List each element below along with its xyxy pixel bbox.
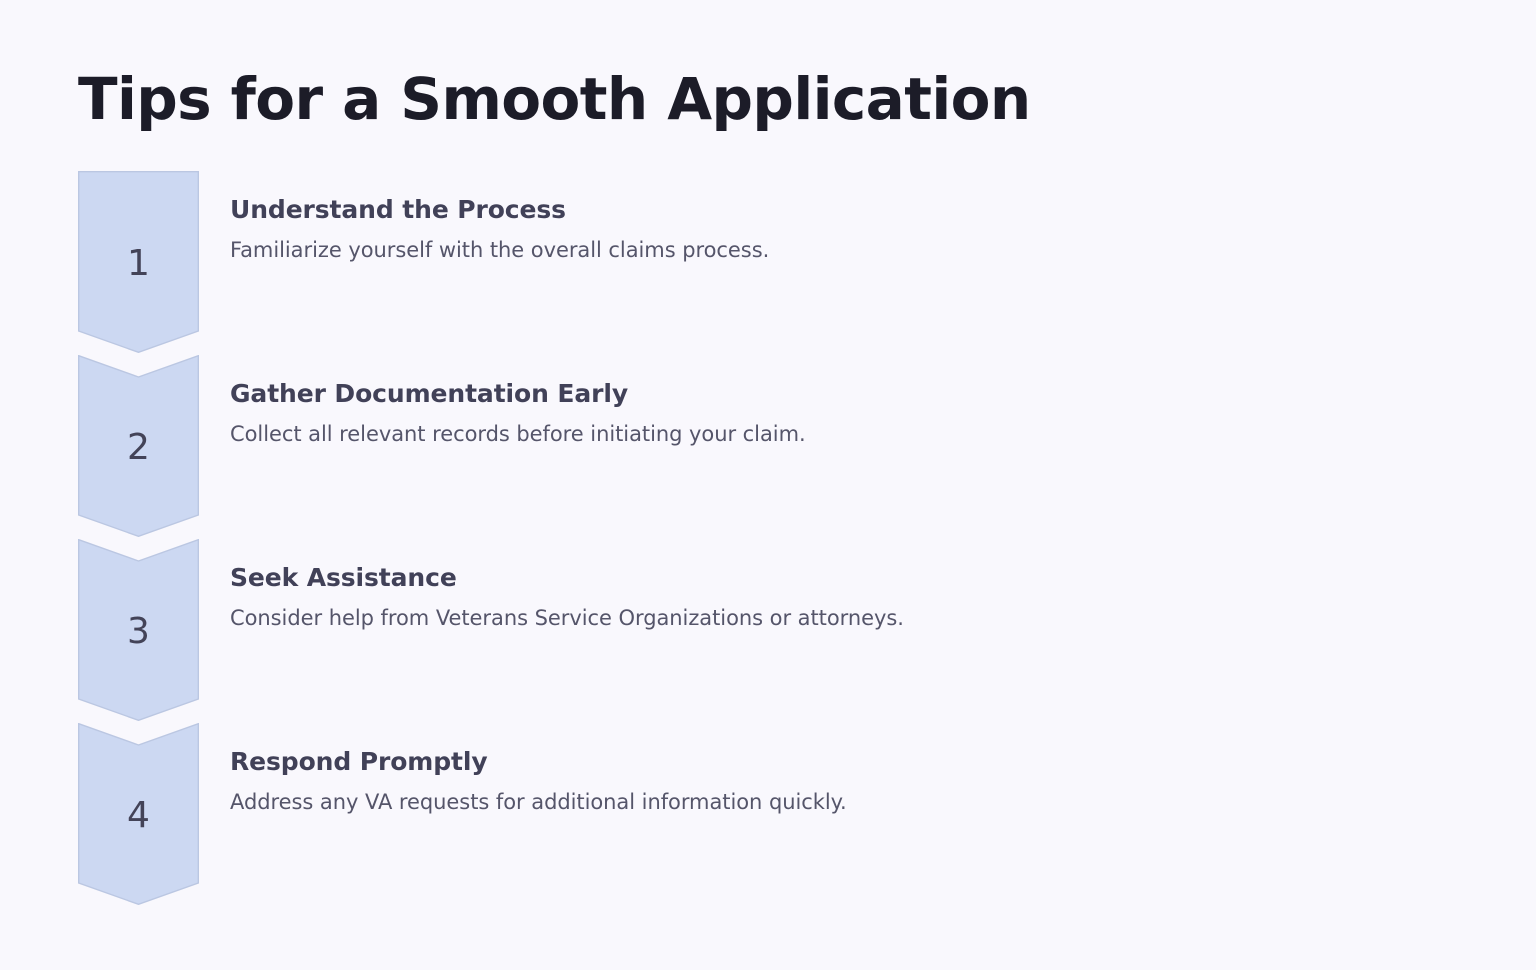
step-heading: Understand the Process (230, 195, 1350, 225)
step-heading: Gather Documentation Early (230, 379, 1350, 409)
step-number: 3 (78, 539, 199, 721)
step-heading: Respond Promptly (230, 747, 1350, 777)
list-item: 3 Seek Assistance Consider help from Vet… (0, 539, 1536, 723)
step-content: Understand the Process Familiarize yours… (230, 195, 1350, 264)
list-item: 4 Respond Promptly Address any VA reques… (0, 723, 1536, 907)
step-heading: Seek Assistance (230, 563, 1350, 593)
step-description: Consider help from Veterans Service Orga… (230, 604, 1350, 632)
list-item: 2 Gather Documentation Early Collect all… (0, 355, 1536, 539)
page-title: Tips for a Smooth Application (78, 63, 1031, 135)
step-content: Seek Assistance Consider help from Veter… (230, 563, 1350, 632)
step-content: Gather Documentation Early Collect all r… (230, 379, 1350, 448)
step-description: Familiarize yourself with the overall cl… (230, 236, 1350, 264)
list-item: 1 Understand the Process Familiarize you… (0, 171, 1536, 355)
tips-infographic: Tips for a Smooth Application 1 Understa… (0, 0, 1536, 970)
step-number: 1 (78, 171, 199, 353)
steps-list: 1 Understand the Process Familiarize you… (0, 171, 1536, 907)
step-description: Collect all relevant records before init… (230, 420, 1350, 448)
step-content: Respond Promptly Address any VA requests… (230, 747, 1350, 816)
step-number: 4 (78, 723, 199, 905)
step-description: Address any VA requests for additional i… (230, 788, 1350, 816)
step-number: 2 (78, 355, 199, 537)
